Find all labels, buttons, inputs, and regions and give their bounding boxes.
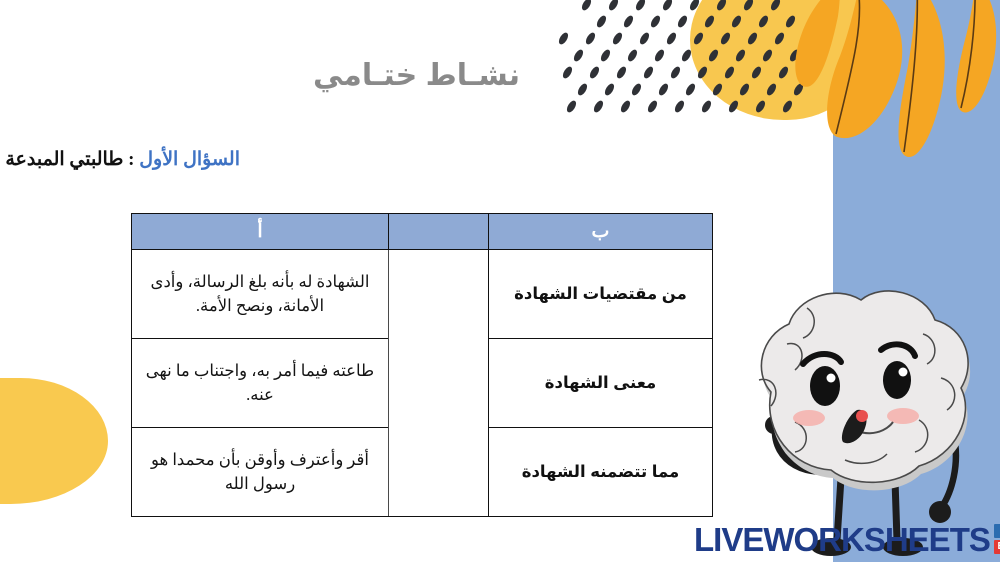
logo-squares: L I V E	[994, 524, 1000, 554]
dot	[673, 99, 686, 114]
dot	[584, 31, 597, 46]
logo-square-e: E	[994, 540, 1000, 554]
dot	[661, 0, 674, 12]
cell-column-a[interactable]: أقر وأعترف وأوقن بأن محمدا هو رسول الله	[132, 428, 389, 517]
dot	[727, 99, 740, 114]
logo-wordmark: LIVEWORKSHEETS	[694, 523, 990, 556]
page-title: نشـاط ختـامي	[0, 58, 833, 93]
cell-column-b[interactable]: معنى الشهادة	[489, 339, 713, 428]
dot	[676, 14, 689, 29]
dot	[688, 0, 701, 12]
table-row: معنى الشهادةطاعته فيما أمر به، واجتناب م…	[132, 339, 713, 428]
dot	[592, 99, 605, 114]
yellow-blob-left-decoration	[0, 378, 108, 504]
dot	[715, 0, 728, 12]
dot	[719, 31, 732, 46]
question-separator: :	[123, 149, 139, 170]
dot	[634, 0, 647, 12]
leaves-decoration	[740, 0, 1000, 194]
dot	[665, 31, 678, 46]
dot	[565, 99, 578, 114]
brain-character-illustration	[745, 282, 995, 562]
cell-matching-area[interactable]	[389, 250, 489, 339]
dot	[607, 0, 620, 12]
dot	[638, 31, 651, 46]
column-header-a: أ	[132, 214, 389, 250]
dot	[700, 99, 713, 114]
column-header-middle	[389, 214, 489, 250]
liveworksheets-logo: L I V E LIVEWORKSHEETS	[694, 521, 1000, 557]
question-line: السؤال الأول : طالبتي المبدعة زاوجي العم…	[0, 148, 240, 171]
cell-column-b[interactable]: مما تتضمنه الشهادة	[489, 428, 713, 517]
dot	[580, 0, 593, 12]
cell-column-a[interactable]: طاعته فيما أمر به، واجتناب ما نهى عنه.	[132, 339, 389, 428]
matching-table: ب أ من مقتضيات الشهادةالشهادة له بأنه بل…	[131, 213, 713, 517]
dot	[557, 31, 570, 46]
worksheet-page: نشـاط ختـامي السؤال الأول : طالبتي المبد…	[0, 0, 1000, 562]
table-row: مما تتضمنه الشهادةأقر وأعترف وأوقن بأن م…	[132, 428, 713, 517]
dot	[611, 31, 624, 46]
table-row: من مقتضيات الشهادةالشهادة له بأنه بلغ ال…	[132, 250, 713, 339]
dot	[649, 14, 662, 29]
table-header-row: ب أ	[132, 214, 713, 250]
dot	[703, 14, 716, 29]
cell-column-a[interactable]: الشهادة له بأنه بلغ الرسالة، وأدى الأمان…	[132, 250, 389, 339]
dot	[595, 14, 608, 29]
dot	[619, 99, 632, 114]
cell-column-b[interactable]: من مقتضيات الشهادة	[489, 250, 713, 339]
question-number-label: السؤال الأول	[139, 149, 240, 170]
dot	[622, 14, 635, 29]
cell-matching-area[interactable]	[389, 339, 489, 428]
cell-matching-area[interactable]	[389, 428, 489, 517]
logo-square-i: I	[994, 524, 1000, 538]
question-text: طالبتي المبدعة زاوجي العمود الأول بما ين…	[0, 149, 123, 170]
dot	[646, 99, 659, 114]
dot	[692, 31, 705, 46]
column-header-b: ب	[489, 214, 713, 250]
